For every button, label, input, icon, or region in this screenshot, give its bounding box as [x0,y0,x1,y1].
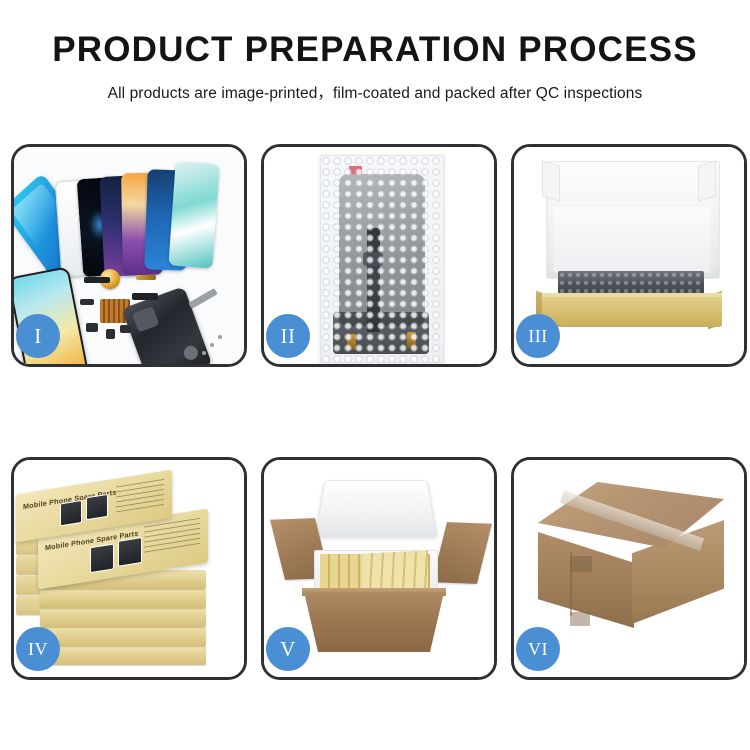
box-flap-left-icon [542,160,560,201]
flex-cable-icon [84,277,110,283]
step-numeral: V [280,639,296,660]
process-step-grid: I II [0,0,750,750]
process-step-panel-3[interactable]: III [511,144,747,367]
process-step-panel-5[interactable]: V [261,457,497,680]
gold-flex-cable-icon [136,275,156,280]
process-step-panel-6[interactable]: VI [511,457,747,680]
step-numeral: III [528,327,547,345]
box-thumbnail-icon [60,500,82,526]
box-thumbnail-icon [90,543,114,573]
flex-cable-icon [132,293,158,300]
screw-icon [218,335,222,339]
carton-body-icon [304,592,444,652]
screw-icon [210,343,214,347]
chip-icon [120,325,131,333]
step-numeral: IV [28,640,48,658]
step-numeral: II [281,326,296,347]
stacked-box-icon [40,627,206,646]
qc-label-icon [349,166,362,174]
stacked-box-icon [40,589,206,608]
wrapped-screen-icon [339,174,425,326]
chip-icon [80,299,94,305]
box-flap-right-icon [698,160,716,201]
carton-tab-icon [570,612,590,626]
step-badge-4: IV [16,627,60,671]
step-badge-5: V [266,627,310,671]
bubble-wrap-bag-icon [320,155,444,363]
phone-screen-teal-icon [168,162,219,269]
stacked-box-icon [40,608,206,627]
kraft-box-front-icon [542,297,722,327]
carton-tab-icon [570,556,592,572]
gold-tab-icon [347,334,356,350]
step-numeral: VI [528,640,548,658]
stacked-box-icon [40,646,206,665]
foam-sheet-icon [554,207,710,273]
step-badge-3: III [516,314,560,358]
process-step-panel-2[interactable]: II [261,144,497,367]
step-badge-2: II [266,314,310,358]
pry-tool-icon [188,288,217,309]
screw-icon [202,351,206,355]
box-thumbnail-icon [118,537,142,567]
process-step-panel-1[interactable]: I [11,144,247,367]
foam-lid-icon [315,480,438,537]
connector-icon [363,252,383,266]
carton-flap-right-icon [432,522,492,584]
chip-icon [86,323,98,332]
chip-icon [106,329,115,339]
process-step-panel-4[interactable]: Mobile Phone Spare Parts Mobile Phone Sp… [11,457,247,680]
step-numeral: I [34,326,42,347]
step-badge-6: VI [516,627,560,671]
step-badge-1: I [16,314,60,358]
box-spec-lines-icon [116,479,164,513]
gold-tab-icon [407,332,416,348]
box-thumbnail-icon [86,494,108,520]
box-spec-lines-icon [144,518,200,557]
